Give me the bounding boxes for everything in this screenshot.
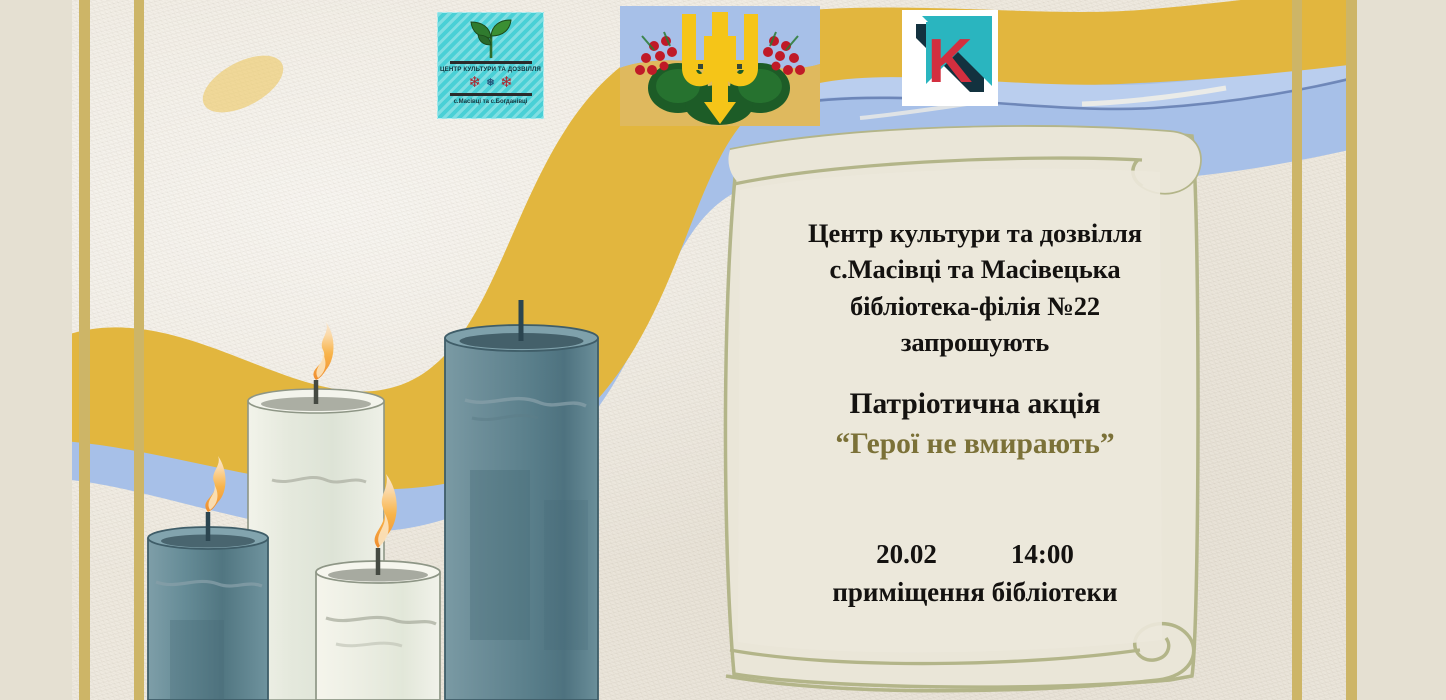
ukraine-tryzub-emblem[interactable] [620, 6, 820, 126]
event-datetime-row: 20.02 14:00 [760, 539, 1190, 570]
border-rule-right-inner [1292, 0, 1302, 700]
event-date: 20.02 [876, 539, 937, 570]
poster-canvas: ЦЕНТР КУЛЬТУРИ ТА ДОЗВІЛЛЯ ❄ ❅ ❄ с.Масів… [0, 0, 1446, 700]
svg-text:K: K [928, 27, 973, 96]
event-time: 14:00 [1011, 539, 1074, 570]
event-title: “Герої не вмирають” [760, 425, 1190, 463]
event-kind: Патріотична акція [760, 386, 1190, 423]
flower-ornament-right: ❄ [500, 76, 513, 91]
logo-divider-top [450, 61, 532, 64]
culture-center-logo[interactable]: ЦЕНТР КУЛЬТУРИ ТА ДОЗВІЛЛЯ ❄ ❅ ❄ с.Масів… [437, 12, 544, 119]
letter-k-logo[interactable]: K [902, 10, 998, 106]
candle-tall-teal [445, 300, 598, 700]
sprout-icon [468, 19, 514, 59]
event-block: Патріотична акція “Герої не вмирають” [760, 386, 1190, 463]
border-rule-right-outer [1346, 0, 1357, 700]
snowflake-ornament: ❅ [486, 78, 495, 89]
logo-divider-bottom [450, 93, 532, 96]
culture-center-logo-subcaption: с.Масівці та с.Богданівці [454, 99, 528, 105]
organizer-line-3: бібліотека-філія №22 [760, 288, 1190, 324]
flower-ornament-left: ❄ [468, 76, 481, 91]
organizer-line-4: запрошують [760, 324, 1190, 360]
border-rule-left-outer [79, 0, 90, 700]
organizer-line-2: с.Масівці та Масівецька [760, 251, 1190, 287]
organizer-line-1: Центр культури та дозвілля [760, 215, 1190, 251]
event-place: приміщення бібліотеки [760, 577, 1190, 608]
culture-center-logo-caption: ЦЕНТР КУЛЬТУРИ ТА ДОЗВІЛЛЯ [440, 66, 541, 73]
announcement-scroll: Центр культури та дозвілля с.Масівці та … [700, 120, 1260, 700]
scroll-text-block: Центр культури та дозвілля с.Масівці та … [760, 215, 1190, 608]
logo-ornament-row: ❄ ❅ ❄ [468, 76, 512, 91]
memorial-candles-illustration [140, 300, 740, 700]
